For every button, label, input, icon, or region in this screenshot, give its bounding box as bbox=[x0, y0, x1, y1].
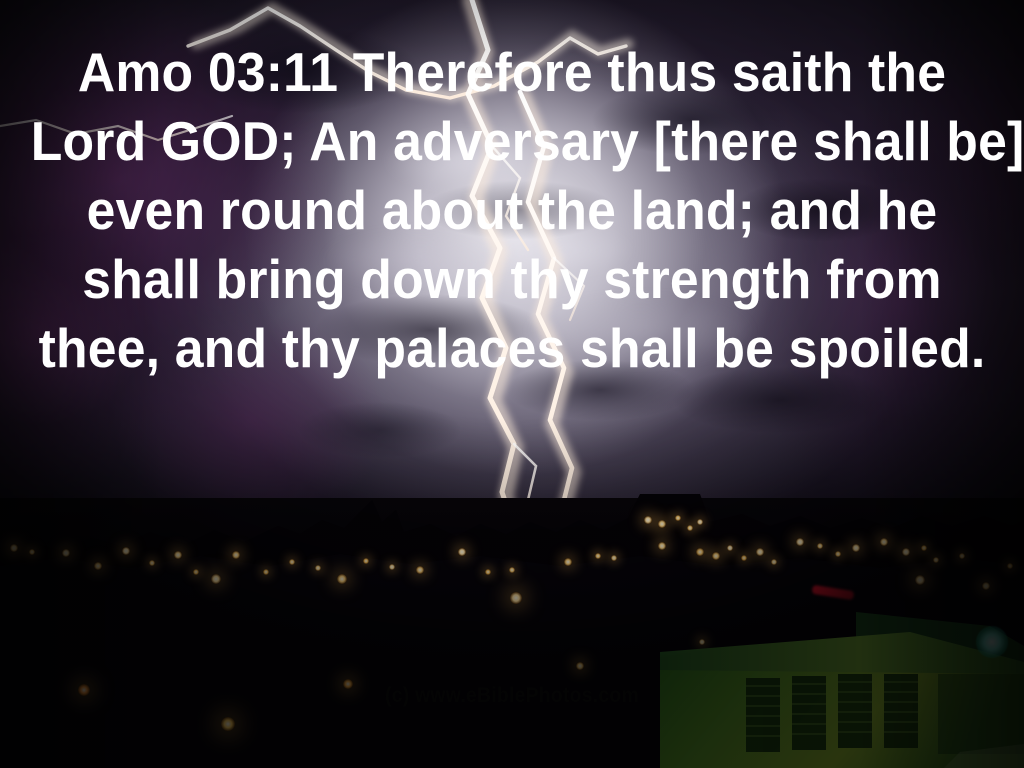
watermark-text: (c) www.eBiblePhotos.com bbox=[385, 684, 639, 708]
verse-line-4: shall bring down thy strength from bbox=[31, 245, 994, 314]
verse-line-2: Lord GOD; An adversary [there shall be] bbox=[31, 107, 994, 176]
scripture-image-canvas: Amo 03:11 Therefore thus saith the Lord … bbox=[0, 0, 1024, 768]
verse-line-5: thee, and thy palaces shall be spoiled. bbox=[31, 314, 994, 383]
verse-line-1: Amo 03:11 Therefore thus saith the bbox=[31, 38, 994, 107]
verse-line-3: even round about the land; and he bbox=[31, 176, 994, 245]
cyan-floodlight bbox=[976, 626, 1008, 658]
verse-text-block: Amo 03:11 Therefore thus saith the Lord … bbox=[0, 38, 1024, 383]
copyright-watermark: (c) www.eBiblePhotos.com bbox=[0, 684, 1024, 708]
